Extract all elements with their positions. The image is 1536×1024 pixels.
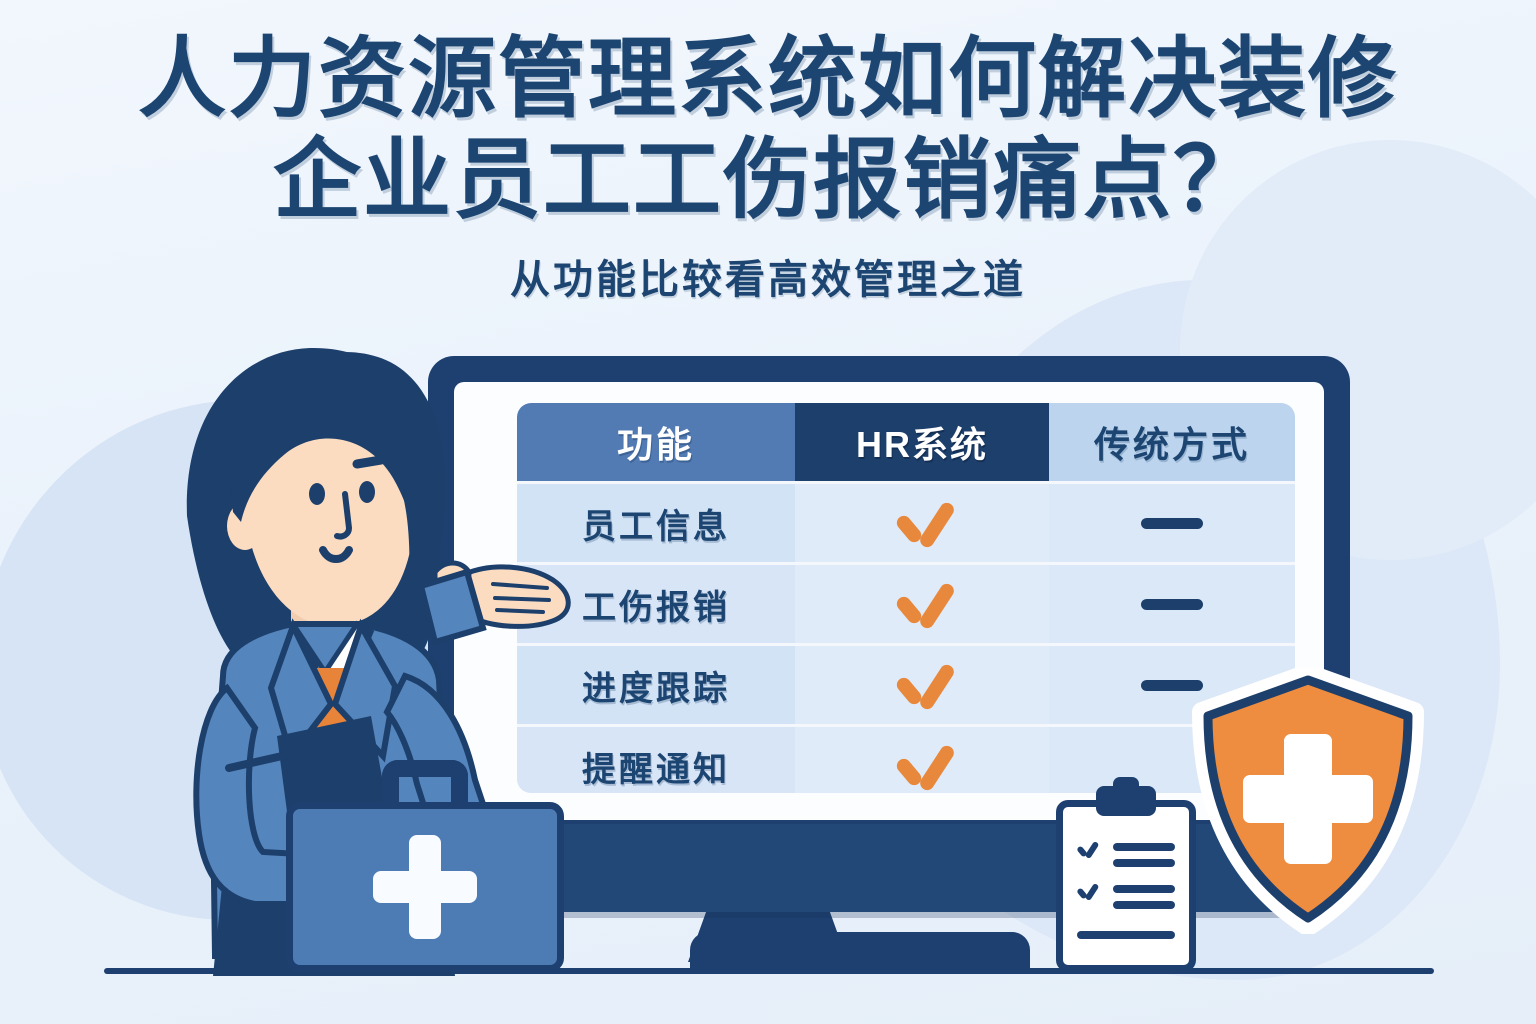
hr-cell [795, 484, 1049, 562]
page-title-line-1: 人力资源管理系统如何解决装修 [0, 34, 1536, 125]
first-aid-kit-icon [286, 760, 564, 972]
page-subtitle: 从功能比较看高效管理之道 [0, 247, 1536, 305]
dash-icon [1141, 599, 1203, 610]
eyebrow [357, 460, 381, 464]
traditional-cell [1049, 565, 1295, 643]
infographic-canvas: 人力资源管理系统如何解决装修 企业员工工伤报销痛点？ 从功能比较看高效管理之道 … [0, 0, 1536, 1024]
column-header-hr-system: HR系统 [795, 403, 1049, 481]
comparison-table: 功能 HR系统 传统方式 员工信息 工伤报销 进度跟踪 [517, 403, 1295, 793]
check-icon [892, 662, 952, 708]
table-header-row: 功能 HR系统 传统方式 [517, 403, 1295, 481]
kit-body [286, 802, 564, 972]
hr-cell [795, 565, 1049, 643]
clipboard-checklist-icon [1056, 786, 1196, 972]
check-icon [892, 500, 952, 546]
page-title-line-2: 企业员工工伤报销痛点？ [0, 135, 1536, 226]
hr-cell [795, 727, 1049, 793]
clipboard-line [1113, 885, 1175, 893]
clipboard-check-icon [1077, 841, 1097, 857]
hr-cell [795, 646, 1049, 724]
table-row: 员工信息 [517, 481, 1295, 562]
table-row: 进度跟踪 [517, 643, 1295, 724]
clipboard-line [1113, 859, 1175, 867]
eye-right [359, 481, 375, 503]
clipboard-line [1077, 931, 1175, 939]
table-row: 提醒通知 [517, 724, 1295, 793]
monitor-base [690, 932, 1030, 972]
check-icon [892, 581, 952, 627]
check-icon [892, 743, 952, 789]
eye-left [309, 483, 325, 505]
clipboard-clip-top [1113, 777, 1139, 793]
clipboard-line [1113, 901, 1175, 909]
traditional-cell [1049, 484, 1295, 562]
clipboard-line [1113, 843, 1175, 851]
clipboard-paper [1056, 800, 1196, 972]
dash-icon [1141, 518, 1203, 529]
heading-block: 人力资源管理系统如何解决装修 企业员工工伤报销痛点？ 从功能比较看高效管理之道 [0, 34, 1536, 305]
column-header-traditional: 传统方式 [1049, 403, 1295, 481]
shield-medical-icon [1190, 668, 1426, 934]
table-row: 工伤报销 [517, 562, 1295, 643]
medical-cross-icon [373, 835, 477, 939]
clipboard-check-icon [1077, 883, 1097, 899]
